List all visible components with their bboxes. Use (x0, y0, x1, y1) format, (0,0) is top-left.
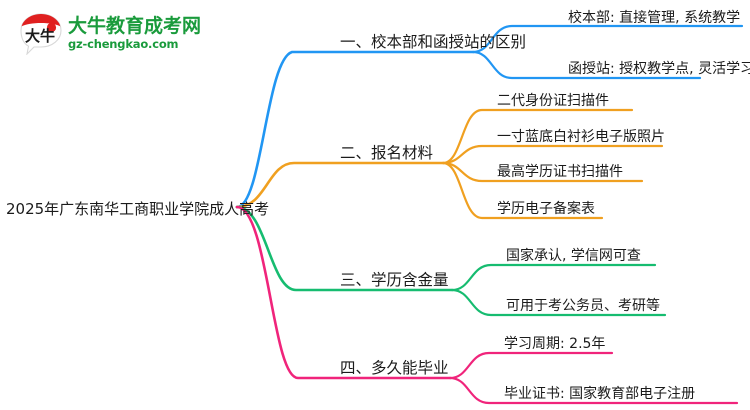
leaf-2-2[interactable]: 一寸蓝底白衬衫电子版照片 (497, 126, 665, 146)
leaf-4-2[interactable]: 毕业证书: 国家教育部电子注册 (504, 383, 695, 403)
leaf-1-1[interactable]: 校本部: 直接管理, 系统教学 (568, 7, 740, 27)
leaf-2-1[interactable]: 二代身份证扫描件 (497, 90, 609, 110)
mindmap-canvas: 大牛 大牛教育成考网 gz-chengkao.com (0, 0, 750, 410)
root-node-label[interactable]: 2025年广东南华工商职业学院成人高考 (6, 198, 269, 219)
leaf-2-4[interactable]: 学历电子备案表 (497, 198, 595, 218)
branch-2-label[interactable]: 二、报名材料 (340, 141, 433, 163)
leaf-3-1[interactable]: 国家承认, 学信网可查 (506, 245, 641, 265)
leaf-4-1[interactable]: 学习周期: 2.5年 (504, 333, 605, 353)
branch-3-label[interactable]: 三、学历含金量 (340, 268, 449, 290)
branch-1-wires (237, 26, 742, 207)
branch-1-label[interactable]: 一、校本部和函授站的区别 (340, 30, 526, 52)
leaf-3-2[interactable]: 可用于考公务员、考研等 (506, 295, 660, 315)
branch-4-wires (237, 207, 737, 403)
branch-4-label[interactable]: 四、多久能毕业 (340, 356, 449, 378)
leaf-2-3[interactable]: 最高学历证书扫描件 (497, 161, 623, 181)
leaf-1-2[interactable]: 函授站: 授权教学点, 灵活学习 (568, 58, 750, 78)
